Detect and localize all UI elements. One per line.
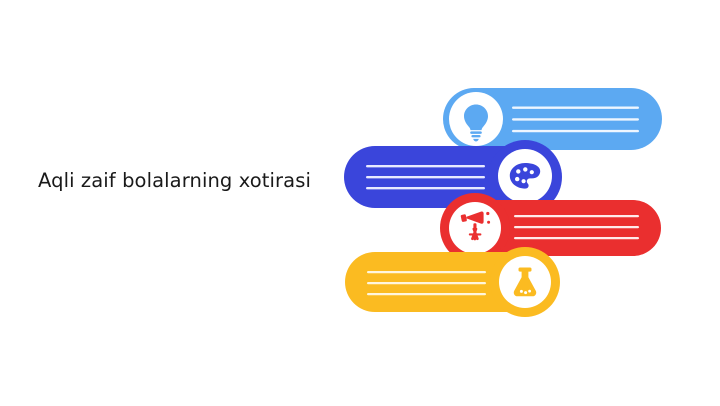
bar-flask[interactable] <box>345 247 560 317</box>
slide-canvas: Aqli zaif bolalarning xotirasi <box>0 0 720 406</box>
infographic-graphic <box>0 0 720 406</box>
infographic-svg <box>0 0 720 406</box>
